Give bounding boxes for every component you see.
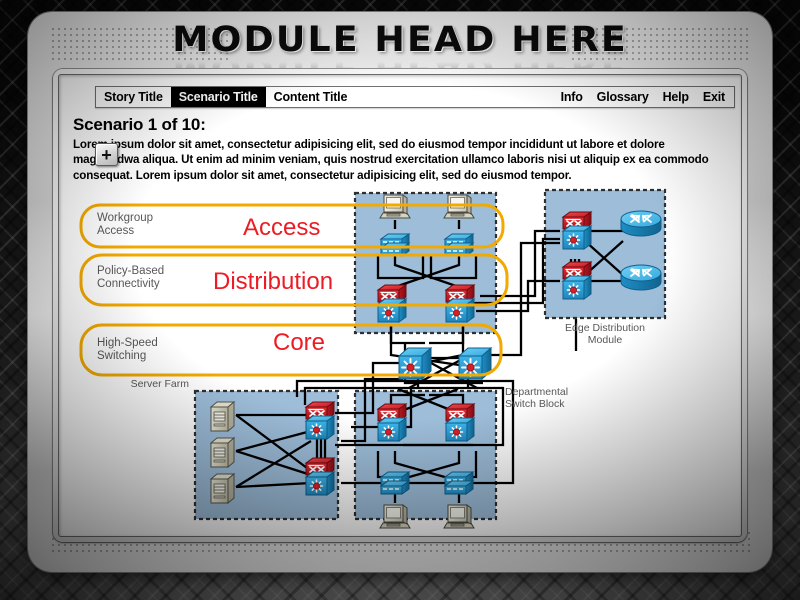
layer-function-line2: Switching <box>97 350 146 362</box>
module-title: MODULE HEAD HERE <box>28 20 772 60</box>
scenario-body-text: Lorem ipsum dolor sit amet, consectetur … <box>73 137 731 183</box>
caption-departmental-switch-block: Departmental Switch Block <box>505 386 568 410</box>
nav-link-help[interactable]: Help <box>663 90 689 104</box>
layer-function-line2: Access <box>97 225 134 237</box>
stacked-switch-icon <box>445 234 473 256</box>
nav-link-exit[interactable]: Exit <box>703 90 725 104</box>
tab-content-title[interactable]: Content Title <box>266 87 356 107</box>
stacked-switch-icon <box>445 472 473 494</box>
layer-name-distribution: Distribution <box>213 268 333 295</box>
desktop-pc-icon <box>380 505 410 528</box>
title-bar: MODULE HEAD HERE MODULE HEAD HERE <box>28 20 772 70</box>
layer-function-line1: High-Speed <box>97 337 158 349</box>
server-icon <box>211 438 234 467</box>
nav-links: Info Glossary Help Exit <box>561 87 734 107</box>
caption-line1: Edge Distribution <box>565 322 645 334</box>
router-icon <box>621 211 661 236</box>
tab-story-title[interactable]: Story Title <box>96 87 171 107</box>
router-icon <box>621 265 661 290</box>
nav-link-info[interactable]: Info <box>561 90 583 104</box>
multilayer-switch-icon <box>306 458 334 495</box>
caption-line2: Module <box>588 334 623 346</box>
caption-server-farm: Server Farm <box>131 378 190 390</box>
content-area: Scenario 1 of 10: Lorem ipsum dolor sit … <box>73 115 731 532</box>
multilayer-switch-icon <box>378 404 406 441</box>
layer-function-line1: Policy-Based <box>97 265 164 277</box>
expand-button[interactable]: + <box>95 143 118 166</box>
desktop-pc-icon <box>444 505 474 528</box>
multilayer-switch-icon <box>563 262 591 299</box>
layer-function-line2: Connectivity <box>97 278 160 290</box>
caption-line2: Switch Block <box>505 398 565 410</box>
layer-function-line1: Workgroup <box>97 212 153 224</box>
stacked-switch-icon <box>381 234 409 256</box>
tab-scenario-title[interactable]: Scenario Title <box>171 87 266 107</box>
page-title: Scenario 1 of 10: <box>73 115 731 135</box>
layer-name-access: Access <box>243 214 320 241</box>
multilayer-switch-icon <box>306 402 334 439</box>
nav-tabs: Story Title Scenario Title Content Title <box>96 87 355 107</box>
screen-frame: + Story Title Scenario Title Content Tit… <box>53 69 747 542</box>
layer-name-core: Core <box>273 329 325 356</box>
caption-line1: Server Farm <box>131 378 190 390</box>
multilayer-switch-icon <box>446 404 474 441</box>
navigation-bar: Story Title Scenario Title Content Title… <box>95 86 735 108</box>
screen: + Story Title Scenario Title Content Tit… <box>58 74 742 537</box>
server-icon <box>211 474 234 503</box>
stacked-switch-icon <box>381 472 409 494</box>
network-diagram: Workgroup Access Access Policy-Based Con… <box>73 183 731 532</box>
server-icon <box>211 402 234 431</box>
multilayer-switch-icon <box>563 212 591 249</box>
nav-link-glossary[interactable]: Glossary <box>597 90 649 104</box>
caption-line1: Departmental <box>505 386 568 398</box>
app-bezel: MODULE HEAD HERE MODULE HEAD HERE + Stor… <box>28 12 772 572</box>
